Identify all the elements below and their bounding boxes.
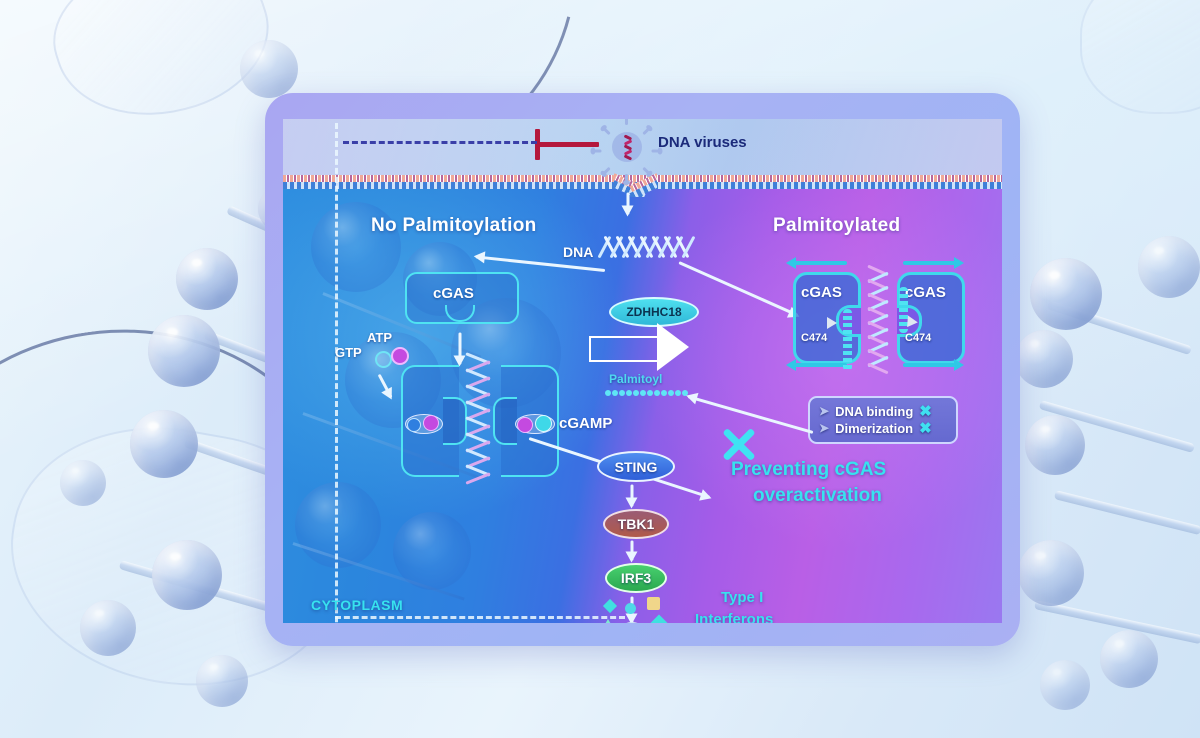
dna-binding-label: DNA binding (835, 403, 913, 420)
figure-frame: DNA viruses No Palmitoylation Palmitoyla… (265, 93, 1020, 646)
conclusion-line-1: Preventing cGAS (731, 459, 886, 481)
gtp-icon (375, 351, 392, 368)
cgas-right-arrow-top (903, 261, 955, 265)
dimer-dna-helix-icon (867, 269, 889, 373)
blocked-function-row: ➤ DNA binding ✖ (819, 403, 947, 420)
conclusion-line-2: overactivation (753, 485, 882, 507)
dimerization-label: Dimerization (835, 420, 913, 437)
virus-genome-icon (624, 136, 632, 158)
dna-helix-icon (603, 235, 693, 259)
blocked-function-row: ➤ Dimerization ✖ (819, 420, 947, 437)
irf3-label: IRF3 (621, 570, 651, 586)
block-arrow-icon (589, 324, 693, 370)
left-panel-title: No Palmitoylation (371, 215, 537, 237)
inhibition-bar-icon (539, 142, 599, 147)
right-panel-title: Palmitoylated (773, 215, 900, 237)
cgas-left-arrow-bottom (795, 363, 847, 367)
cgamp-label: cGAMP (559, 415, 612, 432)
cgas-monomer-label: cGAS (433, 285, 474, 302)
dna-label: DNA (563, 244, 593, 260)
cgas-right-left-label: cGAS (801, 284, 842, 301)
palmitoyl-chain-icon (605, 390, 688, 396)
figure-panel: DNA viruses No Palmitoylation Palmitoyla… (283, 119, 1002, 623)
sting-to-tbk1-arrow (631, 485, 634, 507)
gtp-label: GTP (335, 345, 362, 360)
c474-label-right: C474 (905, 332, 931, 344)
irf3-node: IRF3 (605, 563, 667, 593)
sting-node: STING (597, 451, 675, 482)
blocked-functions-box: ➤ DNA binding ✖ ➤ Dimerization ✖ (808, 396, 958, 444)
cgas-activation-arrow (459, 333, 462, 365)
atp-label: ATP (367, 330, 392, 345)
cgas-right-right-label: cGAS (905, 284, 946, 301)
inhibition-dashed-path (343, 141, 537, 144)
virus-label: DNA viruses (658, 134, 747, 151)
cgas-left-arrow-top (795, 261, 847, 265)
type-i-interferons-line-1: Type I (721, 589, 763, 606)
cgas-right-arrow-bottom (903, 363, 955, 367)
bound-dna-helix-icon (465, 357, 491, 485)
tbk1-to-irf3-arrow (631, 541, 634, 561)
cytoplasm-boundary-left (335, 123, 338, 623)
tbk1-node: TBK1 (603, 509, 669, 539)
zdhhc18-label: ZDHHC18 (626, 305, 681, 319)
bullet-icon: ➤ (819, 420, 829, 437)
dna-binding-cross-icon: ✖ (919, 403, 932, 420)
sting-label: STING (615, 459, 658, 475)
palmitoyl-chain-left-icon (843, 309, 852, 371)
cross-icon (719, 424, 759, 464)
palmitoyl-label: Palmitoyl (609, 372, 662, 386)
cytoplasm-boundary-bottom (335, 616, 625, 619)
virus-icon (605, 125, 649, 169)
type-i-interferons-line-2: Interferons (695, 611, 773, 623)
figure-canvas: DNA viruses No Palmitoylation Palmitoyla… (0, 0, 1200, 738)
c474-label-left: C474 (801, 332, 827, 344)
virus-entry-arrow (627, 193, 630, 215)
c474-pointer-left (827, 317, 837, 329)
bullet-icon: ➤ (819, 403, 829, 420)
tbk1-label: TBK1 (618, 516, 655, 532)
atp-icon (391, 347, 409, 365)
dimerization-cross-icon: ✖ (919, 420, 932, 437)
inhibition-bar-cap (535, 129, 540, 160)
cytoplasm-label: CYTOPLASM (311, 597, 403, 613)
